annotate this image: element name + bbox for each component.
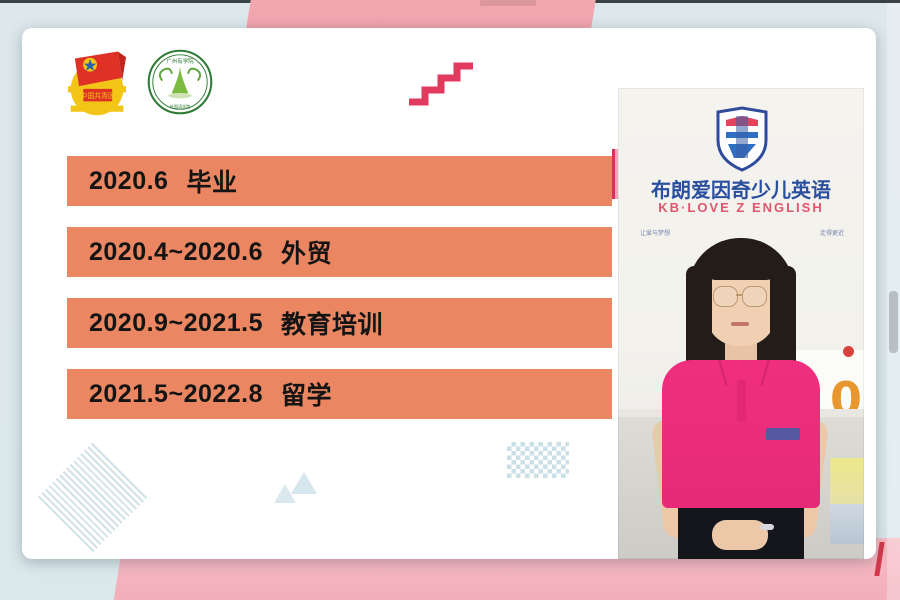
- presenter-glasses-left-lens: [713, 286, 738, 307]
- triangle-icon: [274, 484, 296, 503]
- timeline-date: 2020.9~2021.5: [89, 309, 263, 338]
- slide-presentation-screen: 中国共青团 广州有学院 外国语学院 2020.6 毕业: [0, 0, 900, 600]
- timeline-date: 2020.4~2020.6: [89, 238, 263, 267]
- timeline-label: 外贸: [281, 234, 332, 270]
- timeline-bar-list: 2020.6 毕业 2020.4~2020.6 外贸 2020.9~2021.5…: [67, 156, 612, 419]
- svg-text:外国语学院: 外国语学院: [170, 103, 190, 109]
- presenter-figure: [618, 88, 864, 559]
- presenter-hair-fringe: [703, 240, 779, 280]
- timeline-bar[interactable]: 2020.4~2020.6 外贸: [67, 227, 612, 277]
- timeline-date: 2020.6: [89, 167, 168, 196]
- checkerboard-icon: [507, 442, 569, 478]
- page-scrollbar-thumb[interactable]: [889, 291, 898, 353]
- pink-decor-top-notch: [480, 0, 537, 6]
- timeline-bar[interactable]: 2020.9~2021.5 教育培训: [67, 298, 612, 348]
- timeline-label: 教育培训: [281, 305, 383, 341]
- presenter-glasses-bridge: [736, 294, 742, 296]
- slide-card: 中国共青团 广州有学院 外国语学院 2020.6 毕业: [22, 28, 876, 559]
- striped-diamond-icon: [38, 442, 148, 552]
- presenter-shirt-placket: [737, 380, 746, 422]
- presenter-glasses-right-lens: [742, 286, 767, 307]
- communist-youth-league-emblem-icon: 中国共青团: [62, 46, 132, 118]
- school-seal-icon: 广州有学院 外国语学院: [146, 48, 214, 116]
- svg-text:中国共青团: 中国共青团: [80, 91, 115, 100]
- timeline-label: 毕业: [186, 163, 237, 199]
- presenter-shirt-logo: [766, 428, 800, 440]
- timeline-bar[interactable]: 2021.5~2022.8 留学: [67, 369, 612, 419]
- presenter-mouth: [731, 322, 749, 326]
- page-scrollbar-track[interactable]: [887, 3, 900, 600]
- timeline-date: 2021.5~2022.8: [89, 380, 263, 409]
- presenter-video-panel[interactable]: 布朗爱因奇少儿英语 KB·LOVE Z ENGLISH 让爱与梦想 走得更近 2…: [618, 88, 864, 559]
- timeline-bar[interactable]: 2020.6 毕业: [67, 156, 612, 206]
- presenter-bracelet: [760, 524, 774, 530]
- logo-row: 中国共青团 广州有学院 外国语学院: [62, 46, 214, 118]
- timeline-label: 留学: [281, 376, 332, 412]
- staircase-zigzag-icon: [407, 56, 479, 106]
